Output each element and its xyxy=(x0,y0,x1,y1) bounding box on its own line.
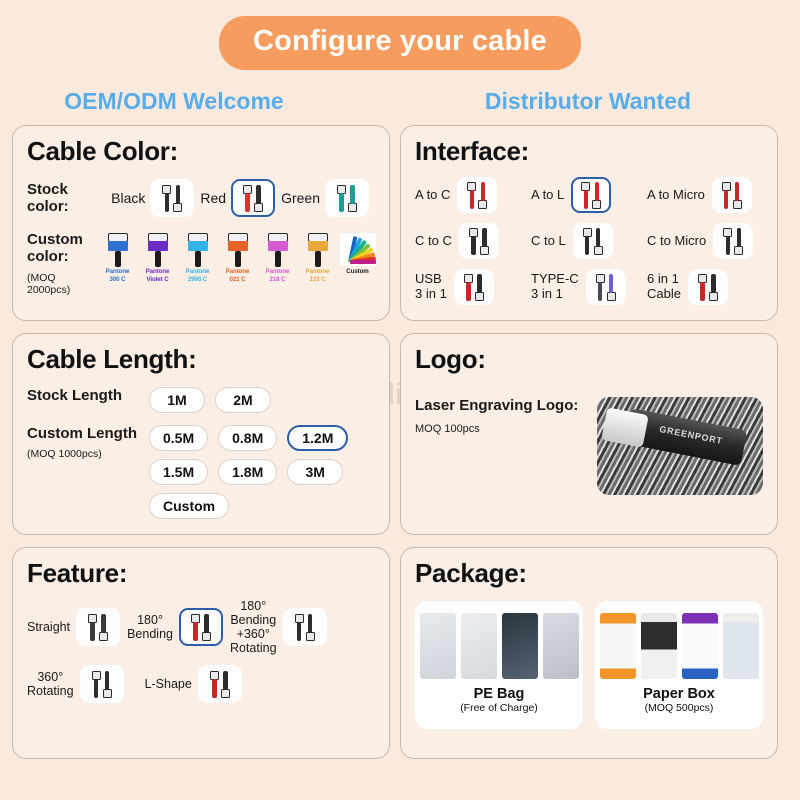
interface-label-6in1-cable: 6 in 1 Cable xyxy=(647,272,681,301)
custom-color-caption-4: Pantone 218 C xyxy=(260,268,295,285)
stock-color-label-black: Black xyxy=(111,190,145,206)
interface-option-a-to-l[interactable]: A to L xyxy=(531,177,647,213)
custom-color-caption-0: Pantone 300 C xyxy=(100,268,135,285)
custom-color-option-2[interactable]: Pantone 2995 C xyxy=(180,233,215,285)
stock-length-label: Stock Length xyxy=(27,387,149,404)
package-options: PE Bag (Free of Charge) Paper Box (MOQ 5… xyxy=(415,601,763,729)
length-option-1m[interactable]: 1M xyxy=(149,387,205,413)
stock-length-labels: Stock Length xyxy=(27,387,149,404)
interface-card: Interface: A to C A to L A to Micro xyxy=(400,125,778,321)
feature-option-l-shape[interactable]: L-Shape xyxy=(145,665,242,703)
feature-label-180-bending-360-rotating: 180° Bending +360° Rotating xyxy=(230,599,277,655)
feature-row-2: 360° Rotating L-Shape xyxy=(27,665,375,703)
stock-color-option-green[interactable]: Green xyxy=(281,179,369,217)
cable-icon-usb-3in1[interactable] xyxy=(454,269,494,305)
custom-color-swatches: Pantone 300 C Pantone Violet C Pantone 2… xyxy=(100,231,375,285)
paper-box-photos xyxy=(600,608,759,684)
cable-icon-black[interactable] xyxy=(150,179,194,217)
paper-box-photo-4 xyxy=(723,613,759,679)
feature-label-l-shape: L-Shape xyxy=(145,677,192,691)
pe-bag-photos xyxy=(420,608,579,684)
interface-option-c-to-c[interactable]: C to C xyxy=(415,223,531,259)
length-option-3m[interactable]: 3M xyxy=(287,459,343,485)
header: Configure your cable xyxy=(0,0,800,70)
stock-length-row: Stock Length 1M 2M xyxy=(27,387,375,413)
feature-card: Feature: Straight 180° Bending 180° Bend… xyxy=(12,547,390,759)
custom-color-labels: Custom color: (MOQ 2000pcs) xyxy=(27,231,100,296)
length-option-2m[interactable]: 2M xyxy=(215,387,271,413)
pe-bag-photo-4 xyxy=(543,613,579,679)
pe-bag-photo-2 xyxy=(461,613,497,679)
cable-icon-pantone-021c xyxy=(228,233,248,266)
cable-icon-c-to-micro[interactable] xyxy=(713,223,753,259)
custom-color-caption-3: Pantone 021 C xyxy=(220,268,255,285)
interface-option-usb-3in1[interactable]: USB 3 in 1 xyxy=(415,269,531,305)
cable-color-card: Cable Color: Stock color: Black Red Gree… xyxy=(12,125,390,321)
interface-label-a-to-c: A to C xyxy=(415,188,450,203)
custom-color-caption-2: Pantone 2995 C xyxy=(180,268,215,285)
cable-icon-typec-3in1[interactable] xyxy=(586,269,626,305)
package-name-pe-bag: PE Bag xyxy=(474,686,525,702)
length-option-15m[interactable]: 1.5M xyxy=(149,459,208,485)
interface-label-c-to-micro: C to Micro xyxy=(647,234,706,249)
feature-option-180-bending[interactable]: 180° Bending xyxy=(127,608,223,646)
stock-color-option-red[interactable]: Red xyxy=(200,179,275,217)
custom-color-option-4[interactable]: Pantone 218 C xyxy=(260,233,295,285)
cable-length-title: Cable Length: xyxy=(27,344,375,375)
interface-label-typec-3in1: TYPE-C 3 in 1 xyxy=(531,272,579,301)
stock-color-label-red: Red xyxy=(200,190,226,206)
stock-color-label-green: Green xyxy=(281,190,320,206)
pe-bag-photo-3 xyxy=(502,613,538,679)
cable-color-title: Cable Color: xyxy=(27,136,375,167)
cable-icon-l-shape[interactable] xyxy=(198,665,242,703)
interface-label-c-to-c: C to C xyxy=(415,234,452,249)
cable-icon-360-rotating[interactable] xyxy=(80,665,124,703)
cable-icon-180-bending[interactable] xyxy=(179,608,223,646)
paper-box-photo-2 xyxy=(641,613,677,679)
length-option-05m[interactable]: 0.5M xyxy=(149,425,208,451)
logo-moq: MOQ 100pcs xyxy=(415,423,597,435)
length-option-12m[interactable]: 1.2M xyxy=(287,425,348,451)
laser-engraving-label: Laser Engraving Logo: xyxy=(415,397,597,414)
cable-icon-pantone-2995c xyxy=(188,233,208,266)
cable-icon-c-to-c[interactable] xyxy=(459,223,499,259)
cable-icon-red[interactable] xyxy=(231,179,275,217)
interface-label-usb-3in1: USB 3 in 1 xyxy=(415,272,447,301)
logo-body: Laser Engraving Logo: MOQ 100pcs GREENPO… xyxy=(415,397,763,495)
cable-icon-pantone-300c xyxy=(108,233,128,266)
cable-icon-pantone-218c xyxy=(268,233,288,266)
feature-label-180-bending: 180° Bending xyxy=(127,613,173,641)
interface-label-c-to-l: C to L xyxy=(531,234,566,249)
feature-label-straight: Straight xyxy=(27,620,70,634)
logo-title: Logo: xyxy=(415,344,763,375)
feature-label-360-rotating: 360° Rotating xyxy=(27,670,74,698)
custom-length-moq: (MOQ 1000pcs) xyxy=(27,448,149,460)
feature-option-straight[interactable]: Straight xyxy=(27,608,120,646)
custom-color-option-5[interactable]: Pantone 123 C xyxy=(300,233,335,285)
paper-box-photo-1 xyxy=(600,613,636,679)
subtitle-row: OEM/ODM Welcome Distributor Wanted xyxy=(0,70,800,125)
cable-icon-c-to-l[interactable] xyxy=(573,223,613,259)
cable-icon-180-bending-360-rotating[interactable] xyxy=(283,608,327,646)
cable-icon-green[interactable] xyxy=(325,179,369,217)
cable-icon-straight[interactable] xyxy=(76,608,120,646)
logo-sample-photo: GREENPORT xyxy=(597,397,763,495)
interface-option-c-to-micro[interactable]: C to Micro xyxy=(647,223,763,259)
feature-title: Feature: xyxy=(27,558,375,589)
interface-option-c-to-l[interactable]: C to L xyxy=(531,223,647,259)
package-card: Package: PE Bag (Free of Charge) xyxy=(400,547,778,759)
feature-row-1: Straight 180° Bending 180° Bending +360°… xyxy=(27,599,375,655)
stock-color-row: Stock color: Black Red Green xyxy=(27,179,375,217)
custom-color-caption-5: Pantone 123 C xyxy=(300,268,335,285)
custom-color-option-1[interactable]: Pantone Violet C xyxy=(140,233,175,285)
custom-length-label: Custom Length xyxy=(27,425,149,442)
custom-color-option-3[interactable]: Pantone 021 C xyxy=(220,233,255,285)
custom-color-row: Custom color: (MOQ 2000pcs) Pantone 300 … xyxy=(27,231,375,296)
options-grid: Cable Color: Stock color: Black Red Gree… xyxy=(0,125,800,759)
interface-options: A to C A to L A to Micro xyxy=(415,177,763,305)
logo-card: Logo: Laser Engraving Logo: MOQ 100pcs G… xyxy=(400,333,778,535)
color-fan-icon xyxy=(340,233,376,266)
feature-option-360-rotating[interactable]: 360° Rotating xyxy=(27,665,124,703)
custom-color-caption-6: Custom xyxy=(340,268,375,276)
interface-title: Interface: xyxy=(415,136,763,167)
stock-color-option-black[interactable]: Black xyxy=(111,179,194,217)
custom-length-pills: 0.5M 0.8M 1.2M 1.5M 1.8M 3M Custom xyxy=(149,425,375,519)
cable-icon-a-to-micro[interactable] xyxy=(712,177,752,213)
feature-option-180-bending-360-rotating[interactable]: 180° Bending +360° Rotating xyxy=(230,599,327,655)
stock-length-pills: 1M 2M xyxy=(149,387,271,413)
pe-bag-photo-1 xyxy=(420,613,456,679)
subtitle-distributor: Distributor Wanted xyxy=(400,88,800,115)
interface-option-a-to-micro[interactable]: A to Micro xyxy=(647,177,763,213)
cable-icon-6in1[interactable] xyxy=(688,269,728,305)
subtitle-oem-odm: OEM/ODM Welcome xyxy=(0,88,400,115)
paper-box-photo-3 xyxy=(682,613,718,679)
package-title: Package: xyxy=(415,558,763,589)
custom-color-moq: (MOQ 2000pcs) xyxy=(27,272,100,296)
custom-length-row: Custom Length (MOQ 1000pcs) 0.5M 0.8M 1.… xyxy=(27,425,375,519)
length-option-08m[interactable]: 0.8M xyxy=(218,425,277,451)
interface-option-6in1-cable[interactable]: 6 in 1 Cable xyxy=(647,269,763,305)
length-option-custom[interactable]: Custom xyxy=(149,493,229,519)
page-title: Configure your cable xyxy=(219,16,581,70)
length-option-18m[interactable]: 1.8M xyxy=(218,459,277,485)
interface-option-a-to-c[interactable]: A to C xyxy=(415,177,531,213)
package-sub-pe-bag: (Free of Charge) xyxy=(460,702,538,714)
custom-length-labels: Custom Length (MOQ 1000pcs) xyxy=(27,425,149,460)
cable-icon-pantone-violet-c xyxy=(148,233,168,266)
custom-color-option-6[interactable]: Custom xyxy=(340,233,375,285)
cable-icon-pantone-123c xyxy=(308,233,328,266)
stock-color-label: Stock color: xyxy=(27,181,111,215)
cable-length-card: Cable Length: Stock Length 1M 2M Custom … xyxy=(12,333,390,535)
connector-tip xyxy=(601,407,649,447)
package-name-paper-box: Paper Box xyxy=(643,686,715,702)
cable-icon-a-to-l[interactable] xyxy=(571,177,611,213)
custom-color-label: Custom color: xyxy=(27,231,100,265)
package-option-pe-bag[interactable]: PE Bag (Free of Charge) xyxy=(415,601,583,729)
interface-label-a-to-micro: A to Micro xyxy=(647,188,705,203)
custom-color-caption-1: Pantone Violet C xyxy=(140,268,175,285)
cable-icon-a-to-c[interactable] xyxy=(457,177,497,213)
logo-text-block: Laser Engraving Logo: MOQ 100pcs xyxy=(415,397,597,495)
package-sub-paper-box: (MOQ 500pcs) xyxy=(645,702,714,714)
package-option-paper-box[interactable]: Paper Box (MOQ 500pcs) xyxy=(595,601,763,729)
custom-color-option-0[interactable]: Pantone 300 C xyxy=(100,233,135,285)
interface-option-typec-3in1[interactable]: TYPE-C 3 in 1 xyxy=(531,269,647,305)
interface-label-a-to-l: A to L xyxy=(531,188,564,203)
